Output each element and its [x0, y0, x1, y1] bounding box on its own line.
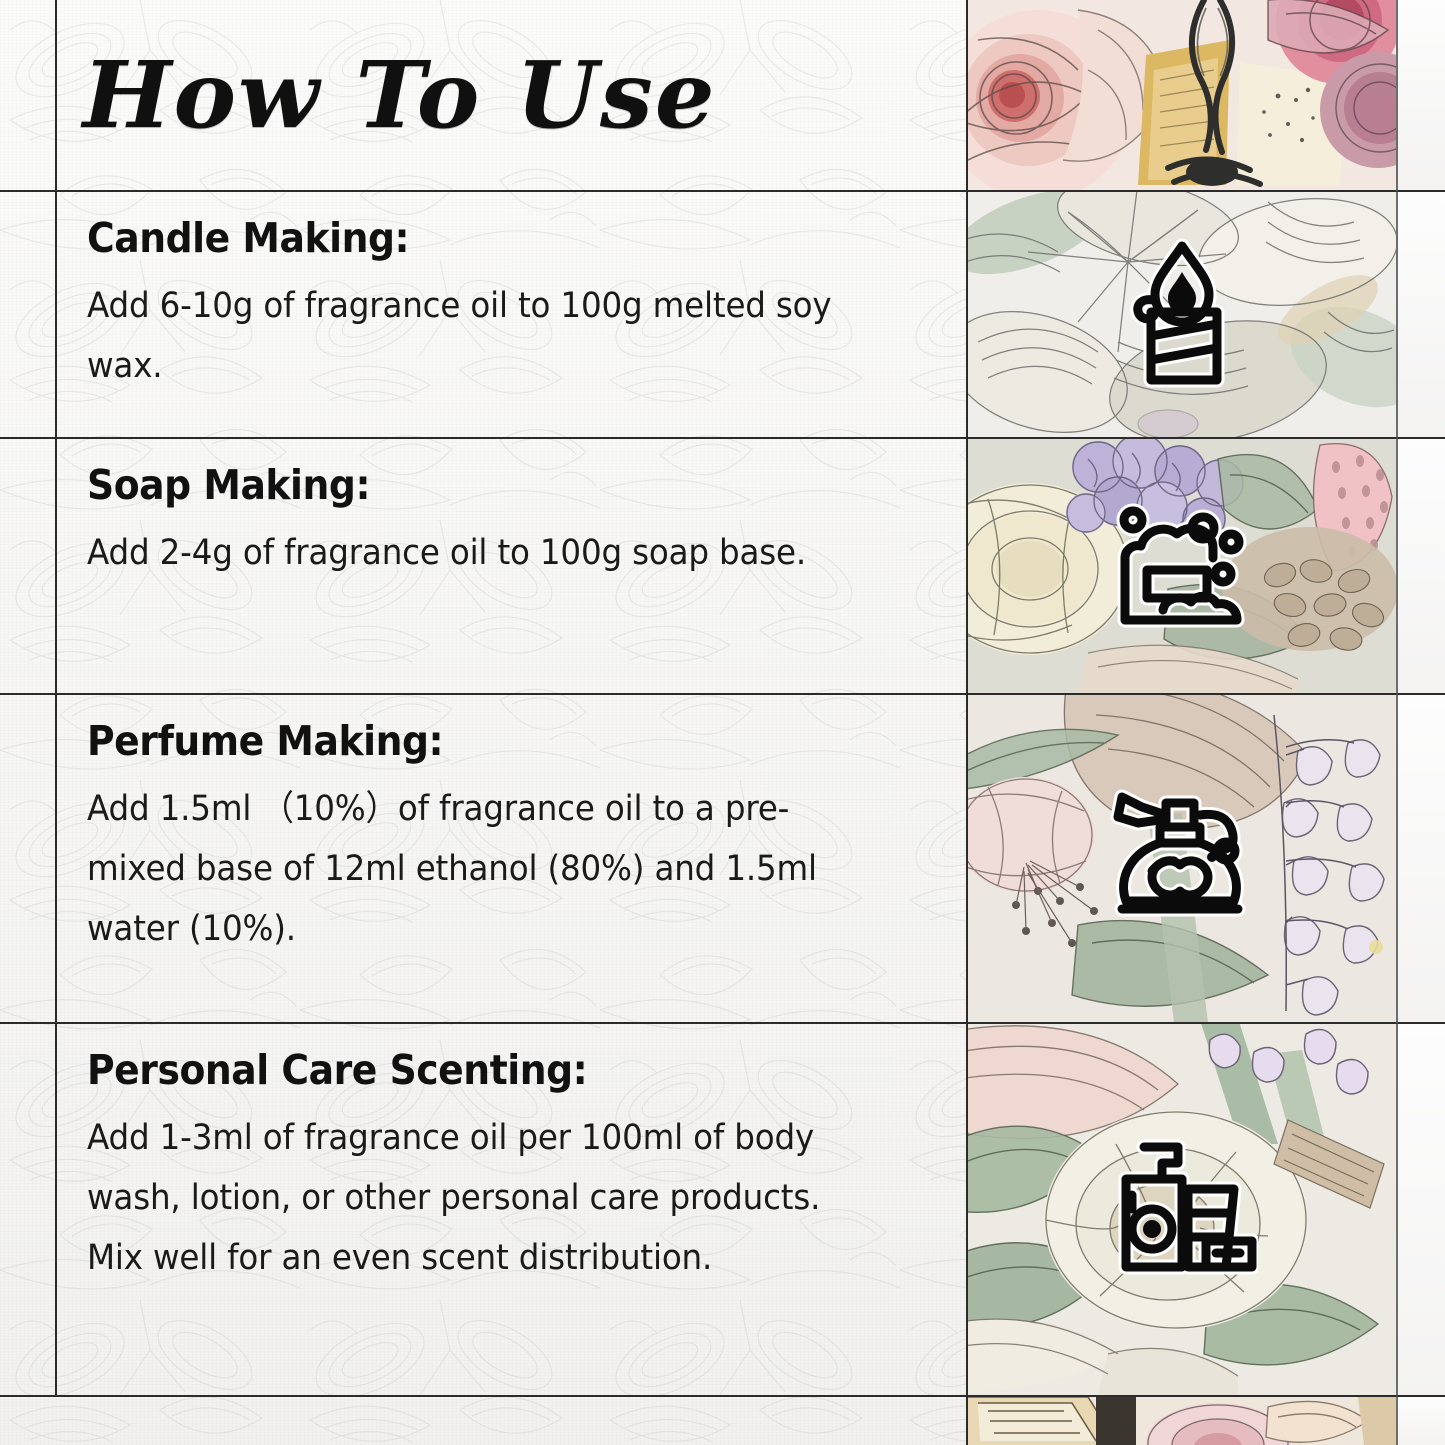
roses-illustration — [968, 0, 1396, 190]
photo-soap-making — [968, 439, 1396, 693]
header-title-cell: How To Use — [57, 0, 966, 190]
section-soap-making: Soap Making: Add 2-4g of fragrance oil t… — [57, 439, 966, 693]
candle-photo-right-margin — [1396, 192, 1445, 437]
personalcare-photo-right-margin — [1396, 1024, 1445, 1395]
divider-below-header — [0, 190, 1445, 192]
section-heading: Soap Making: — [87, 461, 868, 509]
pink-peony-and-book-illustration — [968, 1397, 1396, 1445]
personal-care-products-icon — [1106, 1137, 1258, 1283]
how-to-use-infographic: How To Use — [0, 0, 1445, 1445]
photo-personal-care-scenting — [968, 1024, 1396, 1395]
perfume-photo-right-margin — [1396, 695, 1445, 1022]
page-title: How To Use — [83, 49, 717, 141]
section-body: Add 2-4g of fragrance oil to 100g soap b… — [87, 523, 877, 583]
divider-bottom — [0, 1395, 1445, 1397]
section-body: Add 1.5ml （10%）of fragrance oil to a pre… — [87, 779, 877, 960]
section-heading: Perfume Making: — [87, 717, 868, 765]
right-edge-rule — [1396, 0, 1398, 1445]
photo-candle-making — [968, 192, 1396, 437]
divider-candle-soap — [0, 437, 1445, 439]
section-body: Add 6-10g of fragrance oil to 100g melte… — [87, 276, 877, 396]
section-personal-care-scenting: Personal Care Scenting: Add 1-3ml of fra… — [57, 1024, 966, 1395]
section-heading: Candle Making: — [87, 214, 868, 262]
section-candle-making: Candle Making: Add 6-10g of fragrance oi… — [57, 192, 966, 437]
header-photo-right-margin — [1396, 0, 1445, 190]
divider-soap-perfume — [0, 693, 1445, 695]
photo-perfume-making — [968, 695, 1396, 1022]
photo-column-rule — [966, 0, 968, 1445]
section-perfume-making: Perfume Making: Add 1.5ml （10%）of fragra… — [57, 695, 966, 1022]
footer-photo — [968, 1397, 1396, 1445]
section-heading: Personal Care Scenting: — [87, 1046, 868, 1094]
header-photo — [968, 0, 1396, 190]
left-rule — [55, 0, 57, 1395]
candle-icon — [1117, 238, 1247, 392]
soap-photo-right-margin — [1396, 439, 1445, 693]
perfume-bottle-icon — [1108, 787, 1256, 931]
soap-bar-icon — [1107, 498, 1257, 634]
divider-perfume-personalcare — [0, 1022, 1445, 1024]
section-body: Add 1-3ml of fragrance oil per 100ml of … — [87, 1108, 877, 1289]
footer-photo-right-margin — [1396, 1397, 1445, 1445]
